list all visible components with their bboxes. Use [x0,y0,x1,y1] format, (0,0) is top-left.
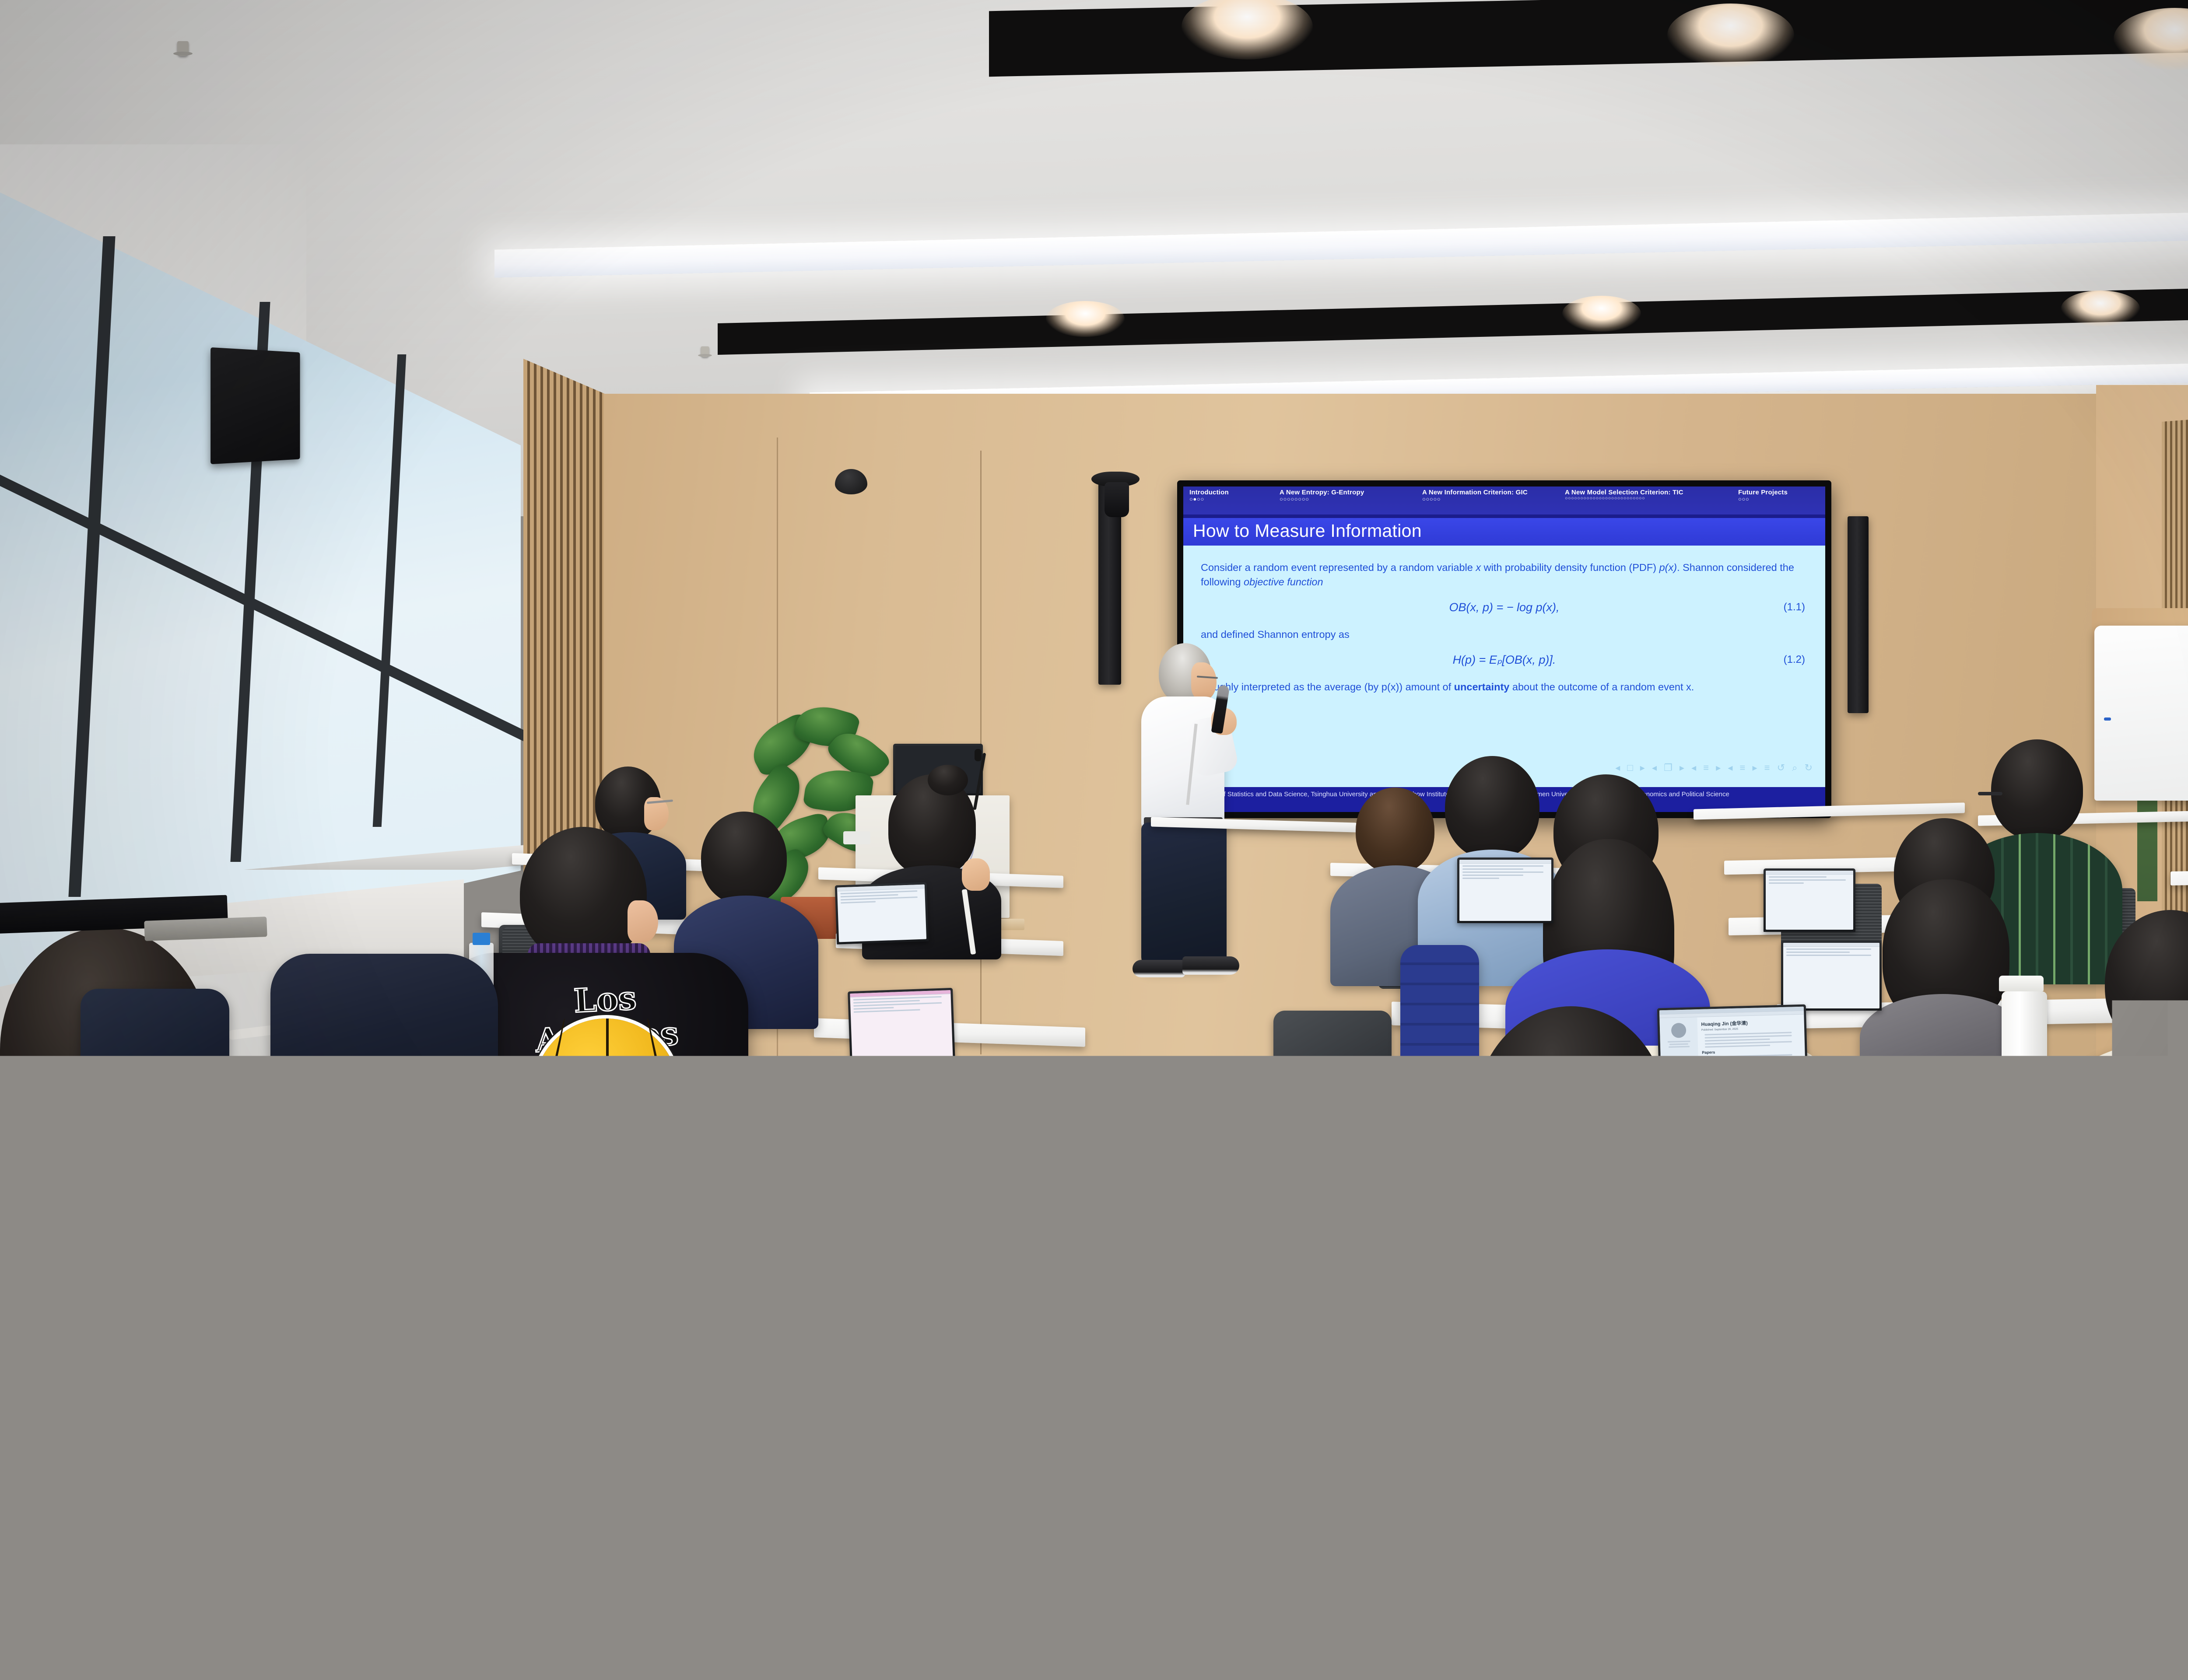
attendee-torso [1383,1216,1777,1619]
attendee-head [1475,1006,1667,1225]
speaker-column-right [1848,516,1869,713]
laptop-base[interactable] [1652,1115,1814,1126]
presenter-trousers [1141,822,1227,967]
nav-section-g-entropy: A New Entropy: G-Entropy ○○○○○○○○ [1280,489,1411,502]
nav-section-gic: A New Information Criterion: GIC ○○○○○ [1422,489,1553,502]
desk-leg [677,1321,691,1505]
laptop-screen: Huaqing Jin (金华清) Published: September 2… [1659,1007,1806,1116]
laptop-screen [1766,871,1853,930]
attendee-ear [628,900,658,942]
equation-1-2-body: H(p) = Eₚ[OB(x, p)]. [1453,653,1556,667]
ceiling-spotlight [1667,3,1794,67]
marker-blue[interactable] [2104,717,2111,721]
puffer-coat-on-chair [1400,945,1479,1251]
equation-1-1-number: (1.1) [1784,601,1805,613]
nav-section-label: A New Entropy: G-Entropy [1280,489,1411,496]
laptop-page-heading: Huaqing Jin (金华清) [1701,1018,1800,1028]
hoodie-monogram: LR [35,1256,53,1270]
laptop[interactable] [848,988,955,1066]
hoodie-monogram: LR [280,1452,298,1467]
presenter-shoe [1182,956,1239,975]
hoodie-body [1737,1312,2188,1680]
equation-1-1: OB(x, p) = − log p(x), (1.1) [1201,601,1808,614]
slide-title: How to Measure Information [1183,518,1825,546]
attendee-head [520,827,647,962]
desk-leg [848,1339,862,1540]
nav-section-introduction: Introduction ○●○○ [1189,489,1268,502]
desk-caster [761,1305,788,1332]
backpack-left[interactable] [81,989,229,1116]
hoodie-monogram: LR [0,1435,14,1450]
desk-caster [665,1496,697,1528]
attendee-glasses-temple [1978,792,2002,795]
ptz-camera-body [1105,482,1129,517]
nav-section-dots: ○○○○○○○○○○○○○○○○○○○○○○○○○○ [1565,496,1727,501]
lecture-hall-photo: Introduction ○●○○ A New Entropy: G-Entro… [0,0,2188,1680]
hoodie-monogram: LR [214,1304,233,1319]
para1-part-b: with probability density function (PDF) [1481,562,1659,573]
nav-section-future: Future Projects ○○○ [1738,489,1788,502]
ceiling-spotlight [2061,290,2140,326]
sprinkler [701,346,709,357]
slide-body: Consider a random event represented by a… [1183,546,1825,694]
slide-paragraph-2: and defined Shannon entropy as [1201,627,1808,642]
presenter [1107,643,1252,989]
nav-section-label: A New Information Criterion: GIC [1422,489,1553,496]
desk-caster [835,1531,869,1565]
laptop[interactable] [1781,941,1882,1011]
ceiling-spotlight [1046,301,1125,337]
shoe [643,1562,726,1610]
laptop-screen [837,885,926,942]
nav-section-dots: ○●○○ [1189,496,1268,502]
slide-paragraph-1: Consider a random event represented by a… [1201,560,1808,589]
attendee-hand [962,858,990,891]
nav-section-dots: ○○○○○ [1422,496,1553,502]
attendee-gray-hoodie [1860,818,2026,1107]
water-bottle-cap[interactable] [473,933,490,945]
sprinkler [177,41,189,56]
laptop[interactable] [835,882,929,944]
laptop-page-section: Education [1702,1061,1801,1068]
jeans-leg [905,1081,999,1219]
attendee-head [2105,910,2188,1054]
gooseneck-microphone-head [975,749,982,761]
backpack[interactable] [1273,1011,1392,1172]
laptop-screen [1459,860,1551,921]
coat-on-chair [270,954,498,1089]
lakers-sub-line-2: LAKERS family [516,1191,700,1208]
nav-section-dots: ○○○ [1738,496,1788,502]
laptop-page-section: Papers [1702,1048,1801,1055]
para3-bold: uncertainty [1454,681,1510,693]
presenter-shoe [1133,960,1185,977]
equation-1-1-body: OB(x, p) = − log p(x), [1449,601,1559,614]
laptop-base[interactable] [843,1063,960,1072]
attendee-bun [928,765,968,795]
nav-section-label: A New Model Selection Criterion: TIC [1565,489,1727,496]
thermos[interactable] [2002,991,2047,1109]
laptop[interactable] [1764,868,1855,932]
para1-emphasis: objective function [1244,576,1323,588]
ceiling-spotlight [1562,296,1641,332]
laptop[interactable] [1457,857,1553,923]
nav-section-dots: ○○○○○○○○ [1280,496,1411,502]
smartphone[interactable] [1507,1125,1578,1163]
hoodie-body: LR LR LR LR [0,1172,420,1680]
nav-section-label: Introduction [1189,489,1268,496]
laptop-screen [1783,943,1879,1008]
laptop-screen [850,990,953,1064]
equation-1-2: H(p) = Eₚ[OB(x, p)]. (1.2) [1201,653,1808,667]
lakers-sub-line-1: California Est. 1948 [508,1172,705,1191]
para1-pdf: p(x) [1659,562,1677,573]
beamer-navigation-icons[interactable]: ◂ □ ▸ ◂ ❐ ▸ ◂ ≡ ▸ ◂ ≡ ▸ ≡ ↺ ⌕ ↻ [1615,762,1815,773]
para1-part-a: Consider a random event represented by a… [1201,562,1476,573]
monitor-stand-base [144,917,267,941]
desk-caster [850,1160,873,1183]
slide-nav-rule [1183,514,1825,518]
para3-part-b: about the outcome of a random event x. [1509,681,1694,693]
attendee-foreground-right [1737,1067,2188,1680]
hoodie-monogram-pattern [0,1172,420,1680]
nav-section-tic: A New Model Selection Criterion: TIC ○○○… [1565,489,1727,501]
wall-speaker [210,347,300,464]
slide-nav-bar: Introduction ○●○○ A New Entropy: G-Entro… [1183,486,1825,514]
attendee-ear [2039,1190,2087,1256]
paper-cup[interactable] [1999,976,2044,991]
presenter-face [1191,662,1217,700]
equation-1-2-number: (1.2) [1784,654,1805,666]
slide-paragraph-3: Roughly interpreted as the average (by p… [1201,680,1808,694]
laptop-academic-page[interactable]: Huaqing Jin (金华清) Published: September 2… [1657,1004,1809,1118]
para1-variable: x [1476,562,1481,573]
nav-section-label: Future Projects [1738,489,1788,496]
